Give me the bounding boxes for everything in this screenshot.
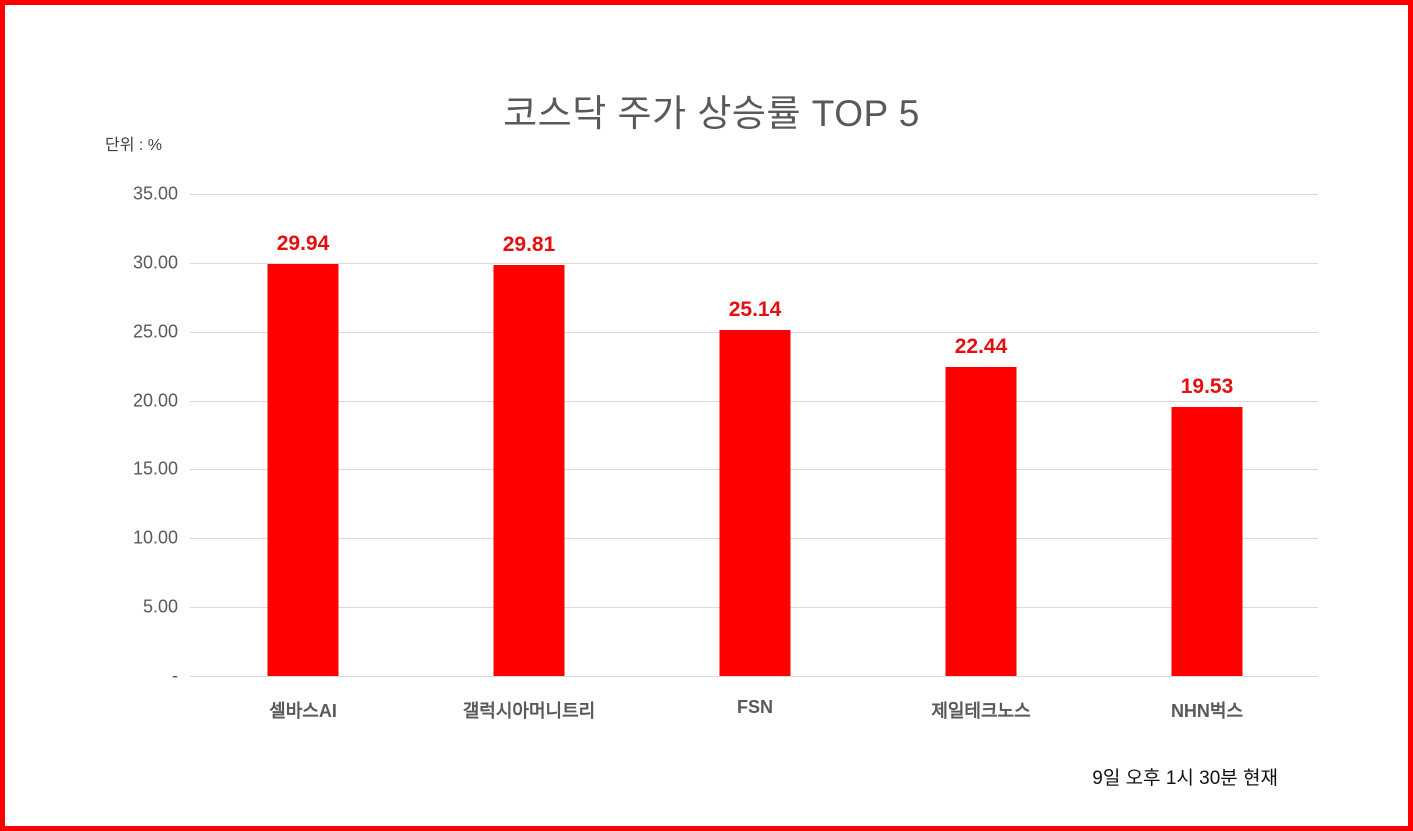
gridline xyxy=(190,676,1318,677)
bar-value-label: 19.53 xyxy=(1181,375,1234,399)
y-axis-tick-label: 35.00 xyxy=(133,184,178,205)
bar-value-label: 29.94 xyxy=(277,232,330,256)
x-axis-category-label: NHN벅스 xyxy=(1094,697,1320,723)
y-axis-tick-label: 10.00 xyxy=(133,528,178,549)
y-axis-tick-label: 20.00 xyxy=(133,390,178,411)
bar[interactable] xyxy=(494,265,565,676)
bar-value-label: 25.14 xyxy=(729,298,782,322)
bar-group[interactable]: 19.53 xyxy=(1094,194,1320,676)
x-axis-category-label: 셀바스AI xyxy=(190,697,416,723)
y-axis-tick-label: 25.00 xyxy=(133,321,178,342)
bars-layer: 29.9429.8125.1422.4419.53 xyxy=(190,194,1318,676)
y-axis-tick-label: - xyxy=(172,666,178,687)
bar[interactable] xyxy=(268,264,339,676)
footnote: 9일 오후 1시 30분 현재 xyxy=(1092,763,1278,790)
bar-group[interactable]: 22.44 xyxy=(868,194,1094,676)
unit-note: 단위 : % xyxy=(105,131,162,155)
x-axis-labels: 셀바스AI갤럭시아머니트리FSN제일테크노스NHN벅스 xyxy=(190,697,1318,727)
bar-value-label: 22.44 xyxy=(955,335,1008,359)
x-axis-category-label: 갤럭시아머니트리 xyxy=(416,697,642,723)
bar-value-label: 29.81 xyxy=(503,233,556,257)
bar[interactable] xyxy=(946,367,1017,676)
y-axis-tick-label: 5.00 xyxy=(143,597,178,618)
bar-group[interactable]: 25.14 xyxy=(642,194,868,676)
bar-group[interactable]: 29.94 xyxy=(190,194,416,676)
chart-title: 코스닥 주가 상승률 TOP 5 xyxy=(5,83,1413,137)
y-axis-labels: 35.0030.0025.0020.0015.0010.005.00- xyxy=(90,194,178,676)
bar[interactable] xyxy=(1172,407,1243,676)
y-axis-tick-label: 30.00 xyxy=(133,252,178,273)
y-axis-tick-label: 15.00 xyxy=(133,459,178,480)
x-axis-category-label: 제일테크노스 xyxy=(868,697,1094,723)
bar[interactable] xyxy=(720,330,791,676)
chart-frame: 코스닥 주가 상승률 TOP 5 단위 : % 35.0030.0025.002… xyxy=(0,0,1413,831)
x-axis-category-label: FSN xyxy=(642,697,868,718)
bar-group[interactable]: 29.81 xyxy=(416,194,642,676)
